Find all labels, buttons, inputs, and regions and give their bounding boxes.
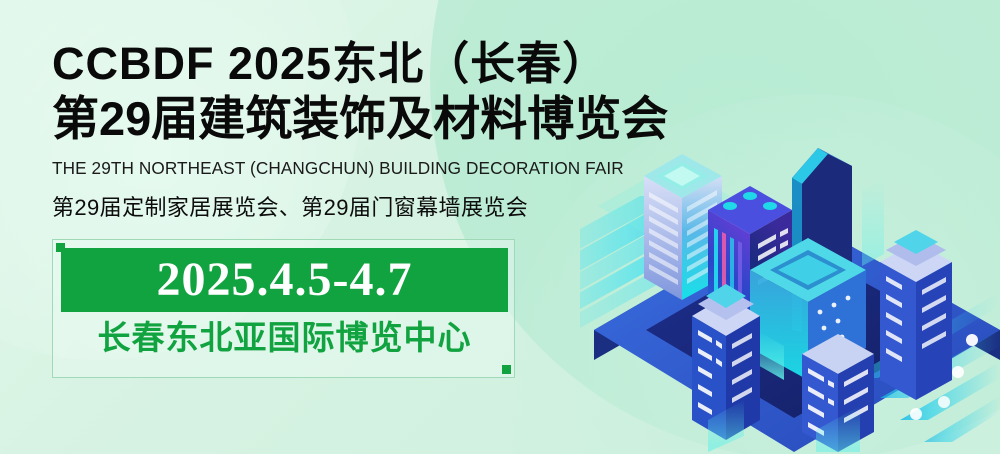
subtitle-chinese: 第29届定制家居展览会、第29届门窗幕墙展览会 — [52, 190, 640, 222]
event-venue: 长春东北亚国际博览中心 — [53, 318, 516, 358]
event-date: 2025.4.5-4.7 — [157, 256, 413, 304]
isometric-city-illustration — [580, 0, 1000, 454]
banner-content: CCBDF 2025东北（长春） 第29届建筑装饰及材料博览会 THE 29TH… — [0, 0, 640, 454]
page-title-line2: 第29届建筑装饰及材料博览会 — [52, 91, 640, 146]
exhibition-banner: CCBDF 2025东北（长春） 第29届建筑装饰及材料博览会 THE 29TH… — [0, 0, 1000, 454]
event-info-frame: 2025.4.5-4.7 长春东北亚国际博览中心 — [52, 239, 515, 378]
building-right-tall-tower — [880, 230, 952, 400]
frame-corner-bottomright-marker — [502, 365, 511, 374]
event-date-box: 2025.4.5-4.7 — [61, 248, 508, 312]
subtitle-english: THE 29TH NORTHEAST (CHANGCHUN) BUILDING … — [52, 158, 640, 179]
page-title-line1: CCBDF 2025东北（长春） — [52, 40, 640, 89]
building-front-striped-tower — [802, 334, 874, 452]
